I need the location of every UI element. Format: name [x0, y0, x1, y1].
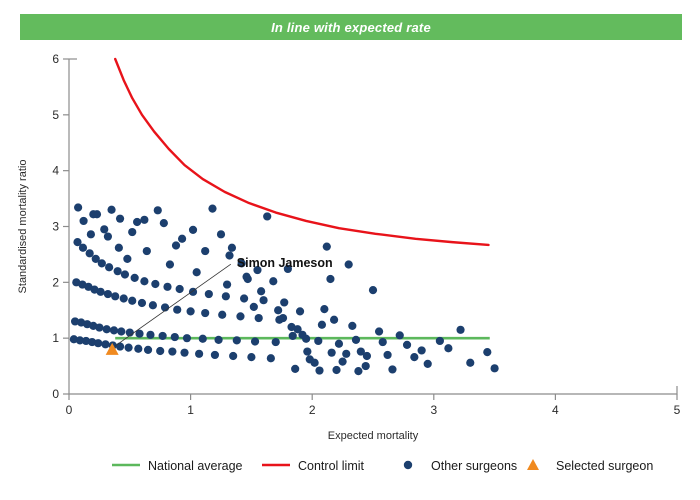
data-point[interactable]: [187, 307, 195, 315]
data-point[interactable]: [140, 277, 148, 285]
data-point[interactable]: [466, 359, 474, 367]
data-point[interactable]: [272, 338, 280, 346]
data-point[interactable]: [199, 335, 207, 343]
data-point[interactable]: [180, 349, 188, 357]
data-point[interactable]: [151, 280, 159, 288]
data-point[interactable]: [291, 365, 299, 373]
data-point[interactable]: [314, 337, 322, 345]
data-point[interactable]: [103, 325, 111, 333]
x-axis-title: Expected mortality: [328, 430, 419, 442]
data-point[interactable]: [133, 218, 141, 226]
data-point[interactable]: [348, 322, 356, 330]
data-point[interactable]: [138, 299, 146, 307]
x-tick-label: 3: [430, 403, 437, 417]
y-tick-label: 2: [52, 275, 59, 289]
data-point[interactable]: [114, 267, 122, 275]
data-point[interactable]: [236, 312, 244, 320]
x-tick-label: 2: [309, 403, 316, 417]
annotation-label: Simon Jameson: [237, 256, 333, 270]
data-point[interactable]: [424, 360, 432, 368]
data-point[interactable]: [214, 336, 222, 344]
y-tick-label: 0: [52, 387, 59, 401]
data-point[interactable]: [146, 331, 154, 339]
data-point[interactable]: [223, 280, 231, 288]
data-point[interactable]: [335, 340, 343, 348]
data-point[interactable]: [240, 294, 248, 302]
data-point[interactable]: [104, 290, 112, 298]
data-point[interactable]: [189, 226, 197, 234]
data-point[interactable]: [233, 336, 241, 344]
x-tick-label: 1: [187, 403, 194, 417]
data-point[interactable]: [257, 287, 265, 295]
data-point[interactable]: [171, 333, 179, 341]
data-point[interactable]: [154, 206, 162, 214]
data-point[interactable]: [172, 241, 180, 249]
data-point[interactable]: [101, 340, 109, 348]
data-point[interactable]: [323, 243, 331, 251]
data-point[interactable]: [134, 345, 142, 353]
data-point[interactable]: [456, 326, 464, 334]
data-point[interactable]: [318, 321, 326, 329]
data-point[interactable]: [303, 347, 311, 355]
data-point[interactable]: [320, 305, 328, 313]
data-point[interactable]: [342, 350, 350, 358]
legend-item-national-average[interactable]: National average: [112, 459, 243, 473]
data-point[interactable]: [483, 348, 491, 356]
data-point[interactable]: [267, 354, 275, 362]
data-point[interactable]: [173, 306, 181, 314]
data-point[interactable]: [289, 332, 297, 340]
y-tick-label: 3: [52, 220, 59, 234]
data-point[interactable]: [87, 230, 95, 238]
data-point[interactable]: [274, 306, 282, 314]
data-point[interactable]: [160, 219, 168, 227]
legend-label: National average: [148, 459, 243, 473]
data-point[interactable]: [375, 327, 383, 335]
data-point[interactable]: [311, 359, 319, 367]
data-point[interactable]: [201, 247, 209, 255]
data-point[interactable]: [117, 327, 125, 335]
data-point[interactable]: [410, 353, 418, 361]
data-point[interactable]: [296, 307, 304, 315]
data-point[interactable]: [332, 366, 340, 374]
data-point[interactable]: [98, 259, 106, 267]
status-banner: In line with expected rate: [20, 14, 682, 40]
data-point[interactable]: [279, 314, 287, 322]
data-point[interactable]: [339, 358, 347, 366]
legend-label: Control limit: [298, 459, 365, 473]
data-point[interactable]: [379, 338, 387, 346]
data-point[interactable]: [176, 285, 184, 293]
data-point[interactable]: [143, 247, 151, 255]
legend-item-other-surgeons[interactable]: Other surgeons: [404, 459, 517, 473]
data-point[interactable]: [396, 331, 404, 339]
data-point[interactable]: [183, 334, 191, 342]
legend-label: Selected surgeon: [556, 459, 653, 473]
data-point[interactable]: [128, 228, 136, 236]
data-point[interactable]: [104, 232, 112, 240]
data-point[interactable]: [79, 217, 87, 225]
data-point[interactable]: [121, 270, 129, 278]
legend-triangle-swatch: [527, 459, 539, 470]
y-tick-label: 5: [52, 108, 59, 122]
data-point[interactable]: [120, 294, 128, 302]
funnel-plot-svg: 0123456012345Expected mortalityStandardi…: [0, 40, 700, 500]
data-point[interactable]: [168, 347, 176, 355]
data-point[interactable]: [124, 344, 132, 352]
data-point[interactable]: [86, 249, 94, 257]
y-tick-label: 1: [52, 331, 59, 345]
data-point[interactable]: [123, 255, 131, 263]
data-point[interactable]: [225, 251, 233, 259]
data-point[interactable]: [178, 235, 186, 243]
data-point[interactable]: [195, 350, 203, 358]
data-point[interactable]: [110, 326, 118, 334]
data-point[interactable]: [111, 292, 119, 300]
data-point[interactable]: [250, 303, 258, 311]
data-point[interactable]: [163, 283, 171, 291]
data-point[interactable]: [131, 274, 139, 282]
data-point[interactable]: [352, 336, 360, 344]
data-point[interactable]: [280, 298, 288, 306]
status-banner-label: In line with expected rate: [271, 20, 431, 35]
x-tick-label: 0: [66, 403, 73, 417]
data-point[interactable]: [383, 351, 391, 359]
y-tick-label: 4: [52, 164, 59, 178]
data-point[interactable]: [328, 349, 336, 357]
legend-dot-swatch: [404, 461, 412, 469]
data-point[interactable]: [326, 275, 334, 283]
legend-label: Other surgeons: [431, 459, 517, 473]
data-point[interactable]: [491, 364, 499, 372]
data-point[interactable]: [418, 346, 426, 354]
data-point[interactable]: [116, 342, 124, 350]
data-point[interactable]: [79, 244, 87, 252]
data-point[interactable]: [208, 205, 216, 213]
data-point[interactable]: [128, 297, 136, 305]
data-point[interactable]: [222, 292, 230, 300]
x-tick-label: 4: [552, 403, 559, 417]
control-limit-curve: [115, 59, 488, 245]
data-point[interactable]: [166, 260, 174, 268]
data-point[interactable]: [217, 230, 225, 238]
legend-item-control-limit[interactable]: Control limit: [262, 459, 365, 473]
x-tick-label: 5: [674, 403, 681, 417]
data-point[interactable]: [403, 341, 411, 349]
y-axis-title: Standardised mortality ratio: [17, 160, 29, 294]
data-point[interactable]: [89, 210, 97, 218]
data-point[interactable]: [444, 344, 452, 352]
data-point[interactable]: [302, 335, 310, 343]
data-point[interactable]: [159, 332, 167, 340]
data-point[interactable]: [74, 203, 82, 211]
data-point[interactable]: [144, 346, 152, 354]
data-point[interactable]: [201, 309, 209, 317]
data-point[interactable]: [229, 352, 237, 360]
axis-lines: [69, 59, 677, 394]
data-point[interactable]: [388, 365, 396, 373]
y-tick-label: 6: [52, 52, 59, 66]
funnel-plot-chart: 0123456012345Expected mortalityStandardi…: [0, 40, 700, 500]
data-point[interactable]: [95, 323, 103, 331]
data-point[interactable]: [269, 277, 277, 285]
data-point[interactable]: [255, 314, 263, 322]
data-point[interactable]: [94, 339, 102, 347]
data-point[interactable]: [345, 260, 353, 268]
data-point[interactable]: [205, 290, 213, 298]
data-point[interactable]: [242, 273, 250, 281]
data-point[interactable]: [97, 288, 105, 296]
data-point[interactable]: [193, 268, 201, 276]
data-point[interactable]: [211, 351, 219, 359]
legend-item-selected-surgeon[interactable]: Selected surgeon: [527, 459, 653, 473]
data-point[interactable]: [363, 352, 371, 360]
data-point[interactable]: [315, 366, 323, 374]
data-point[interactable]: [436, 337, 444, 345]
data-point[interactable]: [369, 286, 377, 294]
data-point[interactable]: [116, 215, 124, 223]
data-point[interactable]: [330, 316, 338, 324]
data-point[interactable]: [263, 212, 271, 220]
data-point[interactable]: [107, 206, 115, 214]
data-point[interactable]: [247, 353, 255, 361]
data-point[interactable]: [354, 367, 362, 375]
data-point[interactable]: [156, 347, 164, 355]
data-point[interactable]: [218, 311, 226, 319]
data-point[interactable]: [149, 301, 157, 309]
data-point[interactable]: [259, 296, 267, 304]
data-point[interactable]: [362, 362, 370, 370]
data-point[interactable]: [228, 244, 236, 252]
data-point[interactable]: [105, 263, 113, 271]
data-point[interactable]: [115, 244, 123, 252]
data-point[interactable]: [140, 216, 148, 224]
data-point[interactable]: [251, 337, 259, 345]
data-point[interactable]: [100, 225, 108, 233]
other-surgeons-points: [70, 203, 499, 375]
